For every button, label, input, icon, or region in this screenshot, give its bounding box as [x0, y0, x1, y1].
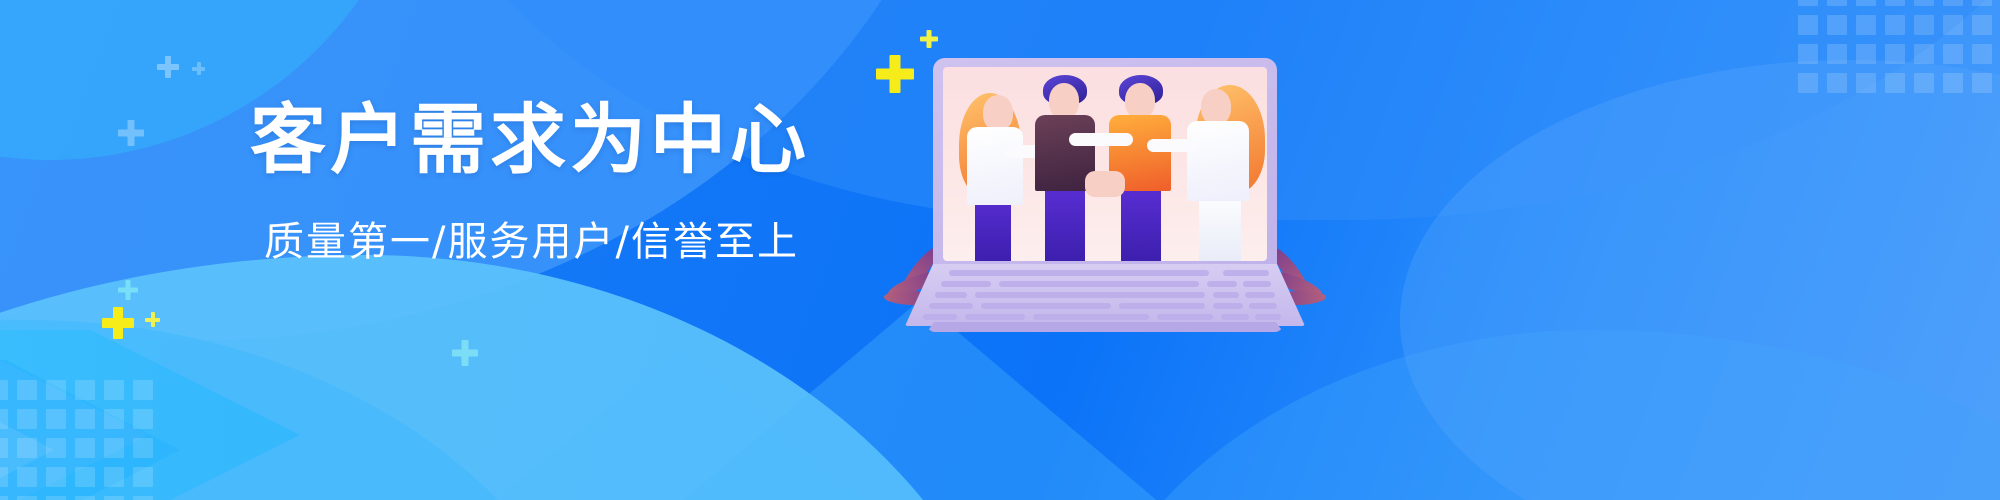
- laptop-lid: [933, 58, 1277, 270]
- laptop-illustration: [905, 58, 1305, 348]
- plus-icon-yellow-tiny: [145, 312, 160, 327]
- banner-headline: 客户需求为中心: [250, 100, 870, 181]
- plus-icon-white-one: [157, 56, 179, 78]
- person-woman-left: [957, 79, 1031, 261]
- stacked-hands: [1085, 171, 1125, 197]
- person-man-right: [1103, 71, 1177, 261]
- plus-icon-white-three: [118, 120, 144, 146]
- person-man-left: [1029, 71, 1101, 261]
- square-grid-bottom-left: [0, 380, 153, 500]
- plus-icon-yellow-bottom: [102, 307, 134, 339]
- square-grid-top-right: [1798, 0, 1992, 93]
- marketing-banner: 客户需求为中心 质量第一/服务用户/信誉至上: [0, 0, 2000, 500]
- laptop-screen: [943, 67, 1267, 261]
- plus-icon-yellow-small: [920, 30, 938, 48]
- laptop-base-lip: [927, 322, 1283, 332]
- banner-copy: 客户需求为中心 质量第一/服务用户/信誉至上: [250, 100, 870, 267]
- plus-icon-cyan-center: [452, 340, 478, 366]
- plus-icon-white-two: [192, 62, 205, 75]
- person-woman-right: [1179, 75, 1263, 261]
- banner-subline: 质量第一/服务用户/信誉至上: [264, 209, 870, 267]
- laptop-keyboard: [905, 264, 1305, 326]
- plus-icon-cyan-left: [118, 280, 138, 300]
